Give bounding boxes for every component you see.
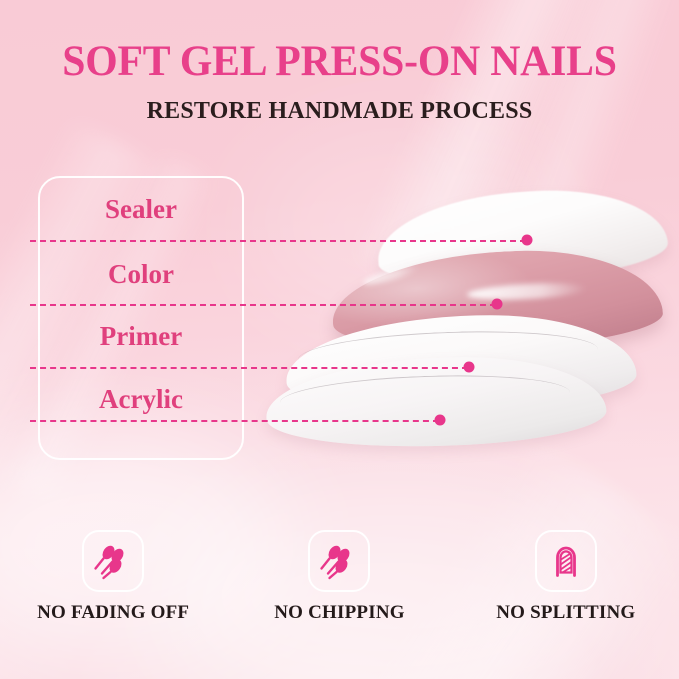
- leader-dot-primer: [464, 362, 475, 373]
- feature-label: NO CHIPPING: [274, 603, 404, 622]
- feature-badge: [535, 530, 597, 592]
- feature-badge: [82, 530, 144, 592]
- layer-label-sealer: Sealer: [38, 196, 244, 223]
- leader-line-sealer: [30, 240, 526, 242]
- layer-label-color: Color: [38, 261, 244, 288]
- three-nails-streaks-icon: [317, 539, 361, 583]
- leader-line-acrylic: [30, 420, 439, 422]
- product-infographic-poster: SOFT GEL PRESS-ON NAILS RESTORE HANDMADE…: [0, 0, 679, 679]
- leader-dot-acrylic: [435, 415, 446, 426]
- feature-label: NO FADING OFF: [37, 603, 189, 622]
- layer-label-primer: Primer: [38, 323, 244, 350]
- feature-item-no-splitting: NO SPLITTING: [453, 530, 679, 622]
- layer-label-acrylic: Acrylic: [38, 386, 244, 413]
- page-title: SOFT GEL PRESS-ON NAILS: [10, 40, 669, 83]
- nail-layer-stack-illustration: [262, 186, 679, 446]
- leader-dot-color: [492, 299, 503, 310]
- single-nail-hatched-icon: [544, 539, 588, 583]
- page-subtitle: RESTORE HANDMADE PROCESS: [0, 99, 679, 123]
- three-nails-streaks-icon: [91, 539, 135, 583]
- feature-list: NO FADING OFF: [0, 530, 679, 622]
- leader-dot-sealer: [522, 235, 533, 246]
- feature-item-no-chipping: NO CHIPPING: [226, 530, 452, 622]
- feature-label: NO SPLITTING: [496, 603, 635, 622]
- feature-badge: [308, 530, 370, 592]
- leader-line-color: [30, 304, 496, 306]
- feature-item-no-fading-off: NO FADING OFF: [0, 530, 226, 622]
- leader-line-primer: [30, 367, 468, 369]
